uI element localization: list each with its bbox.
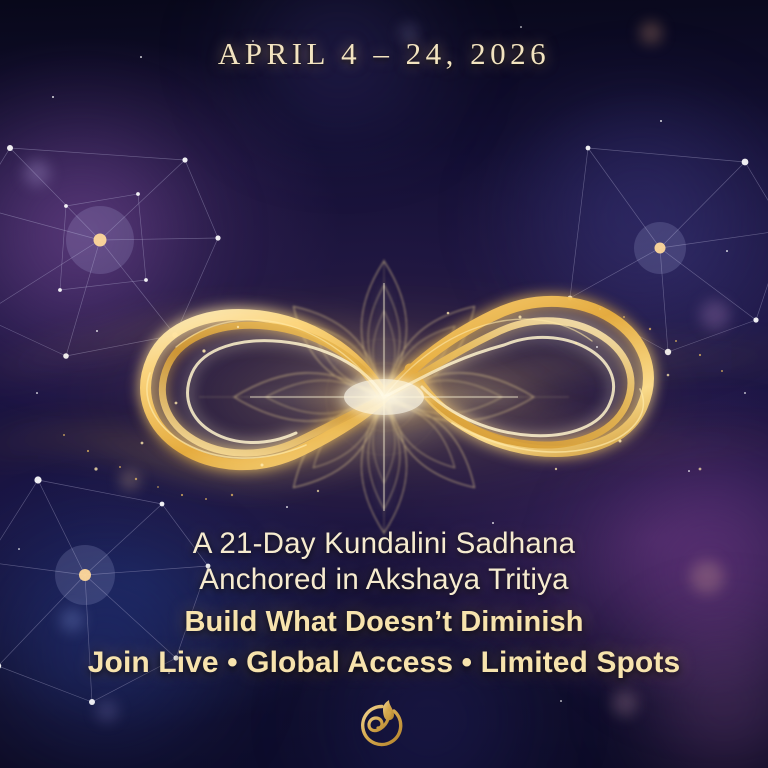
promotional-poster: APRIL 4 – 24, 2026 THE INFINITE PROSPERI…	[0, 0, 768, 768]
tagline: Build What Doesn’t Diminish	[0, 606, 768, 639]
star	[744, 392, 746, 394]
star	[560, 700, 562, 702]
star	[492, 522, 494, 524]
nebula-cloud	[560, 430, 768, 710]
star	[596, 346, 598, 348]
constellation-network-left	[0, 120, 240, 370]
nebula-cloud	[180, 0, 500, 150]
bokeh-orb	[120, 470, 140, 490]
star	[18, 548, 20, 550]
bokeh-orb	[640, 22, 662, 44]
star	[36, 392, 38, 394]
nebula-cloud	[0, 520, 270, 768]
lotus-flame-spiral-icon	[354, 697, 414, 757]
bokeh-orb	[24, 160, 50, 186]
star	[96, 330, 98, 332]
star	[520, 26, 522, 28]
star	[726, 250, 728, 252]
constellation-network-bottom-left	[0, 470, 230, 720]
bokeh-orb	[60, 608, 84, 632]
constellation-network-right	[560, 120, 768, 370]
benefits-line: Join Live • Global Access • Limited Spot…	[0, 646, 768, 680]
bokeh-orb	[690, 560, 724, 594]
title-line-1: THE INFINITE	[0, 92, 768, 150]
bokeh-orb	[612, 690, 638, 716]
bokeh-orb	[96, 700, 118, 722]
page-title: THE INFINITE PROSPERITY PROTOCOL	[0, 92, 768, 258]
title-line-3: PROTOCOL	[0, 200, 768, 258]
event-date: APRIL 4 – 24, 2026	[0, 36, 768, 72]
subtitle-line-1: A 21-Day Kundalini Sadhana	[0, 527, 768, 561]
star	[688, 470, 690, 472]
title-line-2: PROSPERITY	[0, 146, 768, 204]
nebula-cloud	[610, 610, 768, 768]
star	[252, 40, 254, 42]
bokeh-orb	[700, 300, 730, 330]
infinity-lotus-mandala-icon	[0, 255, 768, 540]
nebula-cloud	[280, 620, 580, 768]
nebula-cloud	[0, 110, 230, 360]
bokeh-orb	[400, 24, 418, 42]
star	[140, 56, 142, 58]
subtitle-line-2: Anchored in Akshaya Tritiya	[0, 563, 768, 597]
nebula-cloud	[470, 80, 768, 350]
star	[52, 96, 54, 98]
star	[168, 672, 170, 674]
star	[660, 120, 662, 122]
star	[286, 506, 288, 508]
